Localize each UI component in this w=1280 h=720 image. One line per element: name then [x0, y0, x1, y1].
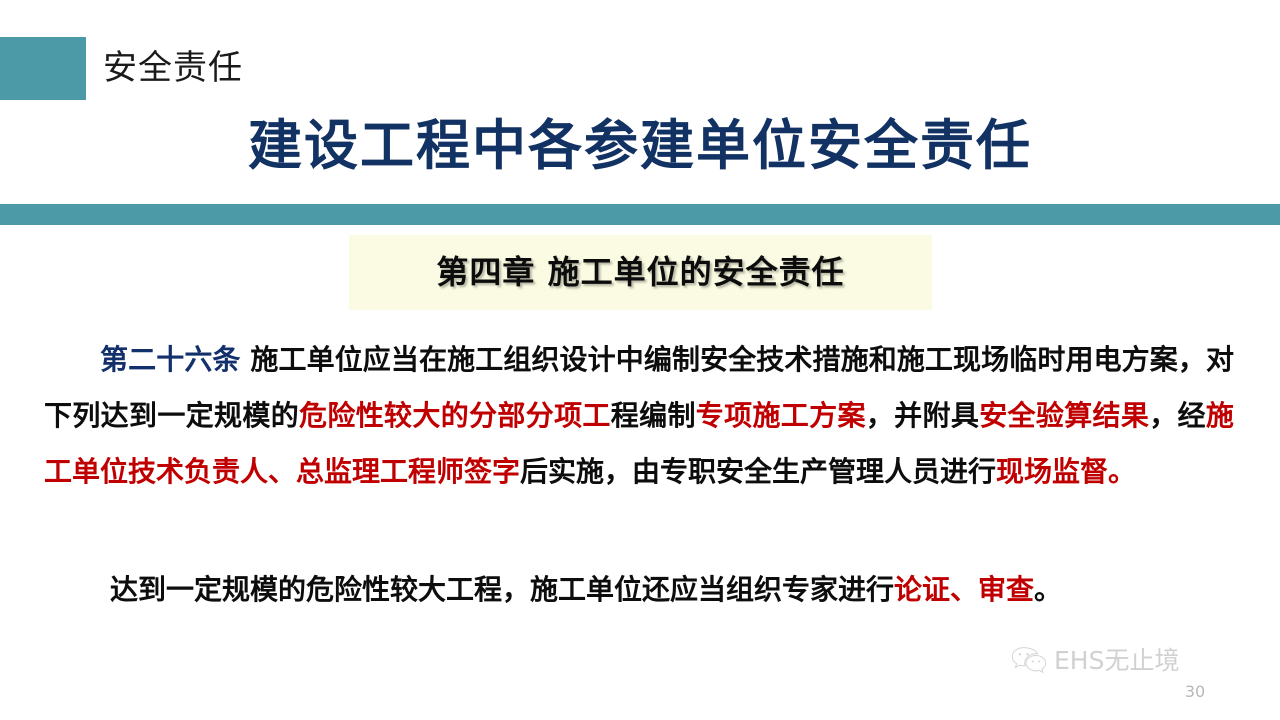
slide-canvas: 安全责任 建设工程中各参建单位安全责任 第四章 施工单位的安全责任 第二十六条 … — [0, 0, 1280, 720]
article-text-run-2: 程编制 — [611, 399, 696, 432]
article-paragraph: 第二十六条 施工单位应当在施工组织设计中编制安全技术措施和施工现场临时用电方案，… — [44, 332, 1234, 500]
closing-text-run-2: 。 — [1034, 573, 1062, 606]
header-accent-swatch — [0, 37, 86, 100]
header-divider-bar — [0, 204, 1280, 225]
chapter-banner: 第四章 施工单位的安全责任 — [349, 235, 932, 310]
closing-text-run-1: 论证、审查 — [894, 573, 1034, 606]
closing-text-run-0: 达到一定规模的危险性较大工程，施工单位还应当组织专家进行 — [110, 573, 894, 606]
closing-segments: 达到一定规模的危险性较大工程，施工单位还应当组织专家进行论证、审查。 — [110, 573, 1062, 606]
article-lead-label: 第二十六条 — [100, 343, 241, 376]
article-text-run-9: 现场监督。 — [996, 455, 1136, 488]
article-text-run-6: ，经 — [1149, 399, 1206, 432]
page-title: 建设工程中各参建单位安全责任 — [0, 106, 1280, 186]
watermark: EHS无止境 — [1010, 645, 1179, 677]
article-text-run-8: 后实施，由专职安全生产管理人员进行 — [520, 455, 996, 488]
article-text-run-5: 安全验算结果 — [979, 399, 1149, 432]
article-text-run-3: 专项施工方案 — [696, 399, 866, 432]
chapter-banner-label: 第四章 施工单位的安全责任 — [349, 235, 932, 310]
closing-paragraph: 达到一定规模的危险性较大工程，施工单位还应当组织专家进行论证、审查。 — [44, 562, 1234, 618]
article-body: 第二十六条 施工单位应当在施工组织设计中编制安全技术措施和施工现场临时用电方案，… — [44, 332, 1234, 500]
wechat-icon — [1010, 645, 1048, 677]
watermark-label: EHS无止境 — [1054, 645, 1179, 677]
article-text-run-4: ，并附具 — [866, 399, 979, 432]
page-number: 30 — [1180, 682, 1210, 702]
article-text-run-1: 危险性较大的分部分项工 — [299, 399, 611, 432]
header-kicker: 安全责任 — [103, 38, 243, 98]
